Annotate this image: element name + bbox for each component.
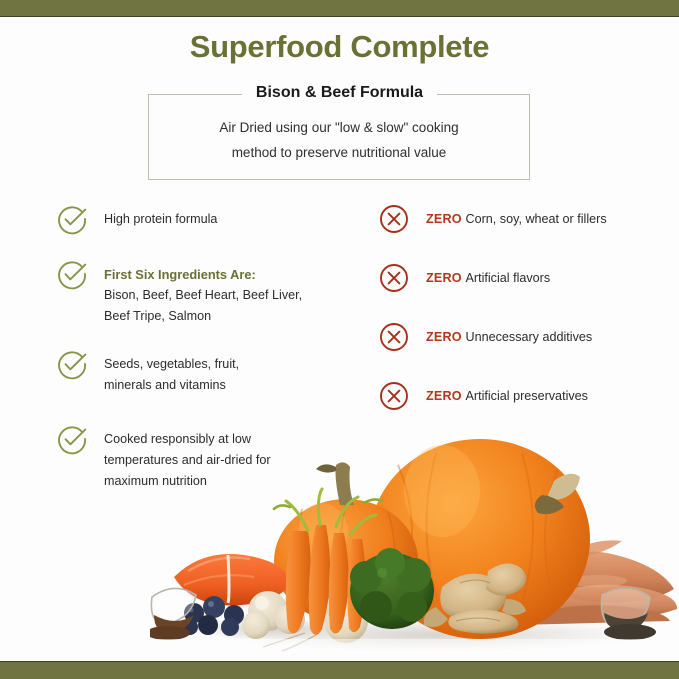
exclusion-text: ZERO Artificial preservatives bbox=[426, 380, 668, 407]
formula-title-text: Bison & Beef Formula bbox=[242, 84, 437, 101]
benefit-line: Seeds, vegetables, fruit, bbox=[104, 354, 356, 375]
check-circle-icon bbox=[56, 348, 88, 380]
zero-badge: ZERO bbox=[426, 271, 465, 285]
infographic-page: Superfood Complete Bison & Beef Formula … bbox=[0, 0, 679, 679]
sweet-potatoes bbox=[518, 540, 677, 625]
salmon-fillet bbox=[174, 554, 290, 606]
zero-badge: ZERO bbox=[426, 212, 465, 226]
exclusions-column: ZERO Corn, soy, wheat or fillers ZERO Ar… bbox=[378, 203, 668, 439]
chia-seed-jar bbox=[601, 588, 670, 640]
benefit-lead: First Six Ingredients Are: bbox=[104, 264, 356, 285]
large-pumpkin bbox=[370, 439, 590, 639]
benefit-line: Bison, Beef, Beef Heart, Beef Liver, bbox=[104, 285, 356, 306]
blueberries bbox=[182, 596, 244, 636]
zero-badge: ZERO bbox=[426, 389, 465, 403]
exclusion-label: Unnecessary additives bbox=[465, 330, 592, 344]
benefit-item: Seeds, vegetables, fruit, minerals and v… bbox=[56, 348, 356, 423]
top-olive-bar bbox=[0, 0, 679, 16]
page-title: Superfood Complete bbox=[0, 29, 679, 65]
formula-description: Air Dried using our "low & slow" cooking… bbox=[160, 115, 518, 165]
exclusion-text: ZERO Unnecessary additives bbox=[426, 321, 668, 348]
formula-title: Bison & Beef Formula bbox=[0, 84, 679, 102]
benefit-text: Cooked responsibly at low temperatures a… bbox=[104, 423, 356, 492]
exclusion-text: ZERO Artificial flavors bbox=[426, 262, 668, 289]
cauliflower bbox=[242, 591, 368, 643]
check-circle-icon bbox=[56, 423, 88, 455]
ginger-root bbox=[424, 563, 526, 633]
top-bar-edge bbox=[0, 16, 679, 17]
formula-desc-line-2: method to preserve nutritional value bbox=[160, 140, 518, 165]
benefit-text: High protein formula bbox=[104, 203, 356, 230]
bottom-olive-bar bbox=[0, 662, 679, 679]
flax-seed-jar bbox=[150, 588, 196, 640]
benefit-text: Seeds, vegetables, fruit, minerals and v… bbox=[104, 348, 356, 396]
benefit-item: High protein formula bbox=[56, 203, 356, 258]
formula-desc-line-1: Air Dried using our "low & slow" cooking bbox=[160, 115, 518, 140]
benefit-line: High protein formula bbox=[104, 209, 356, 230]
benefits-column: High protein formula First Six Ingredien… bbox=[56, 203, 356, 503]
zero-badge: ZERO bbox=[426, 330, 465, 344]
benefit-text: First Six Ingredients Are: Bison, Beef, … bbox=[104, 258, 356, 327]
exclusion-label: Artificial flavors bbox=[465, 271, 550, 285]
broccoli bbox=[350, 548, 434, 629]
exclusion-label: Artificial preservatives bbox=[465, 389, 587, 403]
benefit-line: temperatures and air-dried for bbox=[104, 450, 356, 471]
x-circle-icon bbox=[378, 262, 410, 294]
x-circle-icon bbox=[378, 203, 410, 235]
exclusion-text: ZERO Corn, soy, wheat or fillers bbox=[426, 203, 668, 230]
benefit-item: First Six Ingredients Are: Bison, Beef, … bbox=[56, 258, 356, 348]
exclusion-item: ZERO Corn, soy, wheat or fillers bbox=[378, 203, 668, 262]
benefit-item: Cooked responsibly at low temperatures a… bbox=[56, 423, 356, 503]
benefit-line: maximum nutrition bbox=[104, 471, 356, 492]
check-circle-icon bbox=[56, 258, 88, 290]
exclusion-label: Corn, soy, wheat or fillers bbox=[465, 212, 606, 226]
x-circle-icon bbox=[378, 380, 410, 412]
benefit-line: Beef Tripe, Salmon bbox=[104, 306, 356, 327]
carrots bbox=[263, 489, 382, 651]
exclusion-item: ZERO Artificial preservatives bbox=[378, 380, 668, 439]
check-circle-icon bbox=[56, 203, 88, 235]
x-circle-icon bbox=[378, 321, 410, 353]
exclusion-item: ZERO Unnecessary additives bbox=[378, 321, 668, 380]
exclusion-item: ZERO Artificial flavors bbox=[378, 262, 668, 321]
benefit-line: Cooked responsibly at low bbox=[104, 429, 356, 450]
benefit-line: minerals and vitamins bbox=[104, 375, 356, 396]
